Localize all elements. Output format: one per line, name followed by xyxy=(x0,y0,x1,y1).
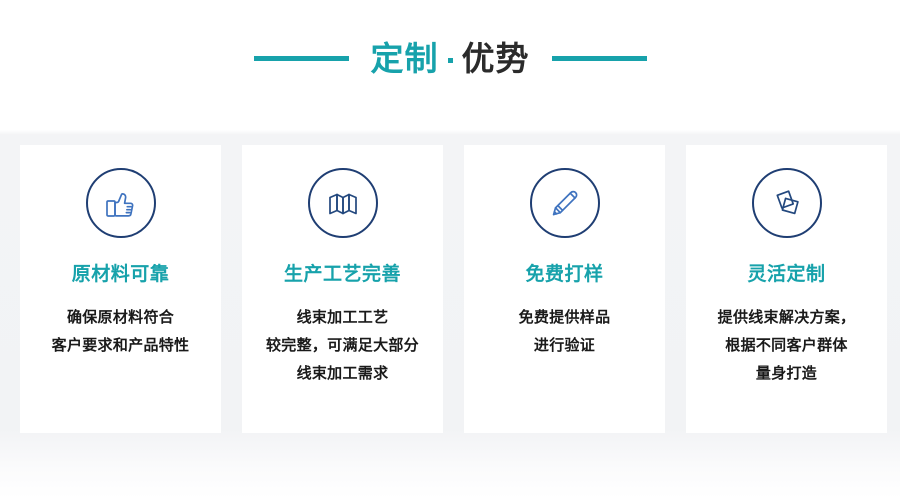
description-line: 根据不同客户群体 xyxy=(718,332,856,360)
description-line: 提供线束解决方案， xyxy=(718,304,856,332)
title-rule-left xyxy=(254,56,349,61)
feature-card-description: 确保原材料符合 客户要求和产品特性 xyxy=(44,304,198,360)
feature-card-custom[interactable]: 灵活定制 提供线束解决方案， 根据不同客户群体 量身打造 xyxy=(686,145,887,433)
description-line: 客户要求和产品特性 xyxy=(52,332,190,360)
feature-card-description: 线束加工工艺 较完整，可满足大部分 线束加工需求 xyxy=(258,304,427,388)
description-line: 量身打造 xyxy=(718,360,856,388)
title-separator-dot xyxy=(448,58,453,63)
feature-card-list: 原材料可靠 确保原材料符合 客户要求和产品特性 生产工艺完善 线束加工工艺 较完… xyxy=(20,145,880,433)
folded-map-icon xyxy=(308,168,378,238)
feature-card-title: 生产工艺完善 xyxy=(284,265,401,286)
pencil-icon xyxy=(530,168,600,238)
feature-card-material[interactable]: 原材料可靠 确保原材料符合 客户要求和产品特性 xyxy=(20,145,221,433)
thumbs-up-icon xyxy=(86,168,156,238)
feature-card-free-sample[interactable]: 免费打样 免费提供样品 进行验证 xyxy=(464,145,665,433)
feature-card-description: 提供线束解决方案， 根据不同客户群体 量身打造 xyxy=(710,304,864,388)
feature-card-process[interactable]: 生产工艺完善 线束加工工艺 较完整，可满足大部分 线束加工需求 xyxy=(242,145,443,433)
feature-card-title: 免费打样 xyxy=(525,265,603,286)
description-line: 线束加工工艺 xyxy=(266,304,419,332)
description-line: 线束加工需求 xyxy=(266,360,419,388)
description-line: 进行验证 xyxy=(519,332,611,360)
stacked-cards-icon xyxy=(752,168,822,238)
description-line: 较完整，可满足大部分 xyxy=(266,332,419,360)
description-line: 免费提供样品 xyxy=(519,304,611,332)
page-root: 定制 优势 原材料可靠 确保原材料符合 客户要求和产品特性 xyxy=(0,0,900,499)
title-text-primary: 定制 xyxy=(371,42,439,75)
description-line: 确保原材料符合 xyxy=(52,304,190,332)
page-title: 定制 优势 xyxy=(371,42,530,75)
feature-card-description: 免费提供样品 进行验证 xyxy=(511,304,619,360)
title-rule-right xyxy=(552,56,647,61)
section-title: 定制 优势 xyxy=(0,28,900,88)
feature-card-title: 灵活定制 xyxy=(747,265,825,286)
title-text-secondary: 优势 xyxy=(462,42,530,75)
feature-card-title: 原材料可靠 xyxy=(72,265,170,286)
